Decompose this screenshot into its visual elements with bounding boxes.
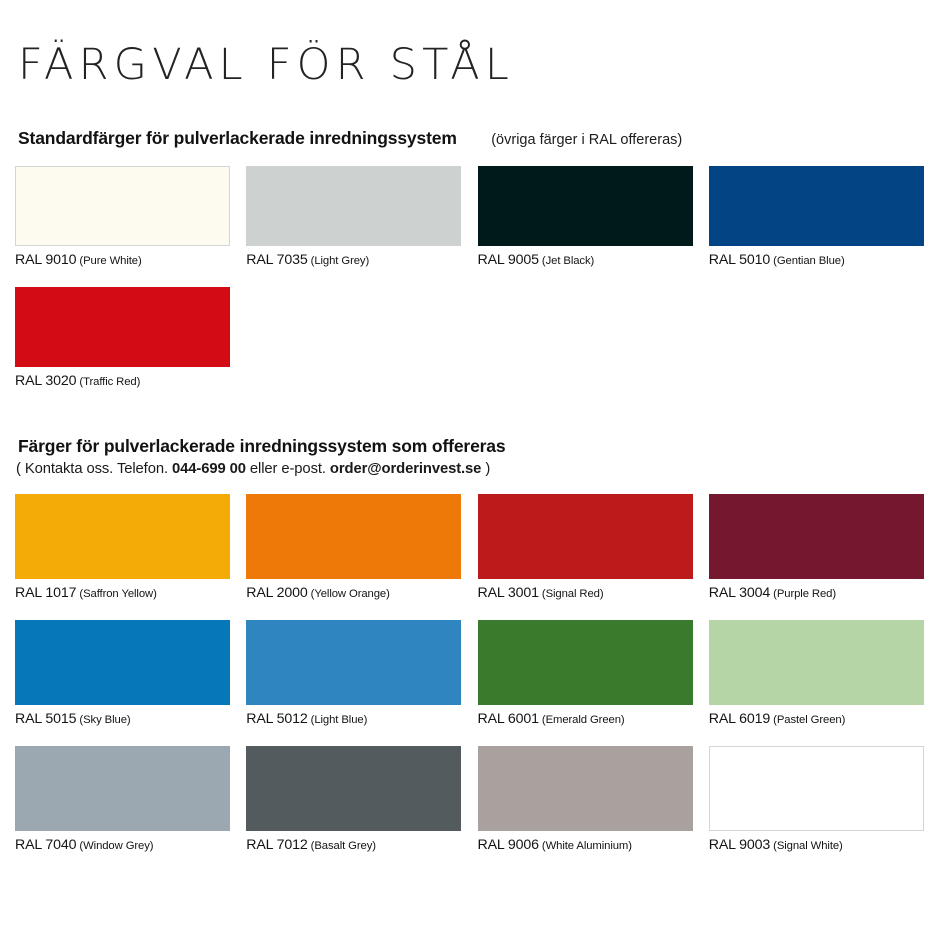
color-swatch[interactable] xyxy=(478,746,693,831)
swatch-cell: RAL 9003 (Signal White) xyxy=(709,746,940,854)
swatch-cell: RAL 9006 (White Aluminium) xyxy=(478,746,709,854)
ral-code: RAL 9006 xyxy=(478,837,539,853)
contact-prefix: ( Kontakta oss. Telefon. xyxy=(16,461,168,477)
swatch-caption: RAL 2000 (Yellow Orange) xyxy=(246,585,461,602)
swatch-item-ral-9005[interactable]: RAL 9005 (Jet Black) xyxy=(478,166,693,269)
ral-color-name: (Signal Red) xyxy=(539,588,604,600)
contact-email[interactable]: order@orderinvest.se xyxy=(330,461,481,477)
ral-color-name: (Pastel Green) xyxy=(770,714,845,726)
swatch-cell: RAL 5015 (Sky Blue) xyxy=(15,620,246,728)
swatch-item-ral-6019[interactable]: RAL 6019 (Pastel Green) xyxy=(709,620,924,728)
color-swatch[interactable] xyxy=(15,287,230,367)
ral-color-name: (Yellow Orange) xyxy=(308,588,390,600)
ral-code: RAL 9010 xyxy=(15,252,76,268)
swatch-item-ral-3020[interactable]: RAL 3020 (Traffic Red) xyxy=(15,287,230,390)
color-swatch[interactable] xyxy=(478,494,693,579)
color-swatch[interactable] xyxy=(246,166,461,246)
ral-color-name: (Basalt Grey) xyxy=(308,840,376,852)
color-swatch[interactable] xyxy=(15,620,230,705)
swatch-caption: RAL 7035 (Light Grey) xyxy=(246,252,461,269)
ral-color-name: (Light Blue) xyxy=(308,714,368,726)
ral-code: RAL 5015 xyxy=(15,711,76,727)
swatch-caption: RAL 7012 (Basalt Grey) xyxy=(246,837,461,854)
ral-color-name: (Sky Blue) xyxy=(76,714,130,726)
swatch-item-ral-9003[interactable]: RAL 9003 (Signal White) xyxy=(709,746,924,854)
swatch-cell: RAL 5012 (Light Blue) xyxy=(246,620,477,728)
ral-code: RAL 2000 xyxy=(246,585,307,601)
swatch-caption: RAL 1017 (Saffron Yellow) xyxy=(15,585,230,602)
ral-code: RAL 7035 xyxy=(246,252,307,268)
color-swatch[interactable] xyxy=(709,746,924,831)
contact-suffix: ) xyxy=(485,461,490,477)
section-offered-header: Färger för pulverlackerade inredningssys… xyxy=(0,436,940,460)
color-swatch[interactable] xyxy=(246,494,461,579)
contact-middle: eller e-post. xyxy=(250,461,326,477)
swatch-item-ral-6001[interactable]: RAL 6001 (Emerald Green) xyxy=(478,620,693,728)
color-swatch[interactable] xyxy=(709,620,924,705)
swatch-item-ral-7040[interactable]: RAL 7040 (Window Grey) xyxy=(15,746,230,854)
section-standard-note: (övriga färger i RAL offereras) xyxy=(491,132,682,148)
ral-code: RAL 5010 xyxy=(709,252,770,268)
color-swatch[interactable] xyxy=(478,620,693,705)
section-standard-heading: Standardfärger för pulverlackerade inred… xyxy=(18,128,457,148)
ral-code: RAL 6019 xyxy=(709,711,770,727)
swatch-cell: RAL 9010 (Pure White) xyxy=(15,166,246,269)
color-swatch[interactable] xyxy=(246,746,461,831)
swatch-cell: RAL 6019 (Pastel Green) xyxy=(709,620,940,728)
swatch-cell: RAL 3001 (Signal Red) xyxy=(478,494,709,602)
ral-code: RAL 3004 xyxy=(709,585,770,601)
swatch-item-ral-3004[interactable]: RAL 3004 (Purple Red) xyxy=(709,494,924,602)
ral-color-name: (White Aluminium) xyxy=(539,840,632,852)
swatch-item-ral-3001[interactable]: RAL 3001 (Signal Red) xyxy=(478,494,693,602)
ral-color-name: (Emerald Green) xyxy=(539,714,625,726)
swatch-caption: RAL 3001 (Signal Red) xyxy=(478,585,693,602)
ral-color-name: (Saffron Yellow) xyxy=(76,588,156,600)
ral-code: RAL 9005 xyxy=(478,252,539,268)
swatch-cell: RAL 7012 (Basalt Grey) xyxy=(246,746,477,854)
color-swatch[interactable] xyxy=(246,620,461,705)
ral-code: RAL 1017 xyxy=(15,585,76,601)
contact-line: ( Kontakta oss. Telefon. 044-699 00 elle… xyxy=(0,461,940,477)
section-standard-colors: Standardfärger för pulverlackerade inred… xyxy=(0,128,940,152)
ral-code: RAL 9003 xyxy=(709,837,770,853)
ral-color-name: (Light Grey) xyxy=(308,255,369,267)
swatch-cell: RAL 7040 (Window Grey) xyxy=(15,746,246,854)
ral-code: RAL 3001 xyxy=(478,585,539,601)
color-swatch[interactable] xyxy=(15,746,230,831)
swatch-caption: RAL 9010 (Pure White) xyxy=(15,252,230,269)
color-swatch[interactable] xyxy=(709,166,924,246)
color-swatch[interactable] xyxy=(15,166,230,246)
color-swatch[interactable] xyxy=(15,494,230,579)
swatch-caption: RAL 9003 (Signal White) xyxy=(709,837,924,854)
swatch-caption: RAL 6001 (Emerald Green) xyxy=(478,711,693,728)
ral-code: RAL 5012 xyxy=(246,711,307,727)
swatch-grid-standard: RAL 9010 (Pure White)RAL 7035 (Light Gre… xyxy=(15,166,940,408)
ral-color-name: (Purple Red) xyxy=(770,588,836,600)
swatch-cell: RAL 7035 (Light Grey) xyxy=(246,166,477,269)
swatch-item-ral-5012[interactable]: RAL 5012 (Light Blue) xyxy=(246,620,461,728)
section-standard-header: Standardfärger för pulverlackerade inred… xyxy=(0,128,940,152)
swatch-grid-offered: RAL 1017 (Saffron Yellow)RAL 2000 (Yello… xyxy=(15,494,940,871)
ral-code: RAL 6001 xyxy=(478,711,539,727)
swatch-cell: RAL 1017 (Saffron Yellow) xyxy=(15,494,246,602)
swatch-cell: RAL 9005 (Jet Black) xyxy=(478,166,709,269)
swatch-caption: RAL 3004 (Purple Red) xyxy=(709,585,924,602)
ral-color-name: (Jet Black) xyxy=(539,255,594,267)
swatch-caption: RAL 6019 (Pastel Green) xyxy=(709,711,924,728)
page-title: FÄRGVAL FÖR STÅL xyxy=(18,44,514,87)
swatch-item-ral-7035[interactable]: RAL 7035 (Light Grey) xyxy=(246,166,461,269)
ral-color-name: (Traffic Red) xyxy=(76,376,140,388)
swatch-cell: RAL 2000 (Yellow Orange) xyxy=(246,494,477,602)
color-swatch[interactable] xyxy=(709,494,924,579)
ral-color-name: (Window Grey) xyxy=(76,840,153,852)
swatch-caption: RAL 5012 (Light Blue) xyxy=(246,711,461,728)
swatch-caption: RAL 5010 (Gentian Blue) xyxy=(709,252,924,269)
ral-color-name: (Gentian Blue) xyxy=(770,255,844,267)
swatch-item-ral-2000[interactable]: RAL 2000 (Yellow Orange) xyxy=(246,494,461,602)
swatch-caption: RAL 3020 (Traffic Red) xyxy=(15,373,230,390)
swatch-cell: RAL 3004 (Purple Red) xyxy=(709,494,940,602)
section-offered-heading: Färger för pulverlackerade inredningssys… xyxy=(18,436,505,456)
swatch-caption: RAL 9006 (White Aluminium) xyxy=(478,837,693,854)
section-offered-colors: Färger för pulverlackerade inredningssys… xyxy=(0,436,940,477)
ral-code: RAL 7040 xyxy=(15,837,76,853)
ral-color-name: (Pure White) xyxy=(76,255,141,267)
swatch-item-ral-1017[interactable]: RAL 1017 (Saffron Yellow) xyxy=(15,494,230,602)
swatch-caption: RAL 9005 (Jet Black) xyxy=(478,252,693,269)
swatch-item-ral-5010[interactable]: RAL 5010 (Gentian Blue) xyxy=(709,166,924,269)
swatch-item-ral-5015[interactable]: RAL 5015 (Sky Blue) xyxy=(15,620,230,728)
swatch-cell: RAL 3020 (Traffic Red) xyxy=(15,287,246,390)
ral-code: RAL 3020 xyxy=(15,373,76,389)
swatch-cell: RAL 5010 (Gentian Blue) xyxy=(709,166,940,269)
color-chart-page: FÄRGVAL FÖR STÅL Standardfärger för pulv… xyxy=(0,0,940,940)
swatch-cell: RAL 6001 (Emerald Green) xyxy=(478,620,709,728)
color-swatch[interactable] xyxy=(478,166,693,246)
contact-phone: 044-699 00 xyxy=(172,461,246,477)
swatch-item-ral-7012[interactable]: RAL 7012 (Basalt Grey) xyxy=(246,746,461,854)
swatch-caption: RAL 7040 (Window Grey) xyxy=(15,837,230,854)
swatch-item-ral-9010[interactable]: RAL 9010 (Pure White) xyxy=(15,166,230,269)
swatch-item-ral-9006[interactable]: RAL 9006 (White Aluminium) xyxy=(478,746,693,854)
ral-color-name: (Signal White) xyxy=(770,840,843,852)
ral-code: RAL 7012 xyxy=(246,837,307,853)
swatch-caption: RAL 5015 (Sky Blue) xyxy=(15,711,230,728)
